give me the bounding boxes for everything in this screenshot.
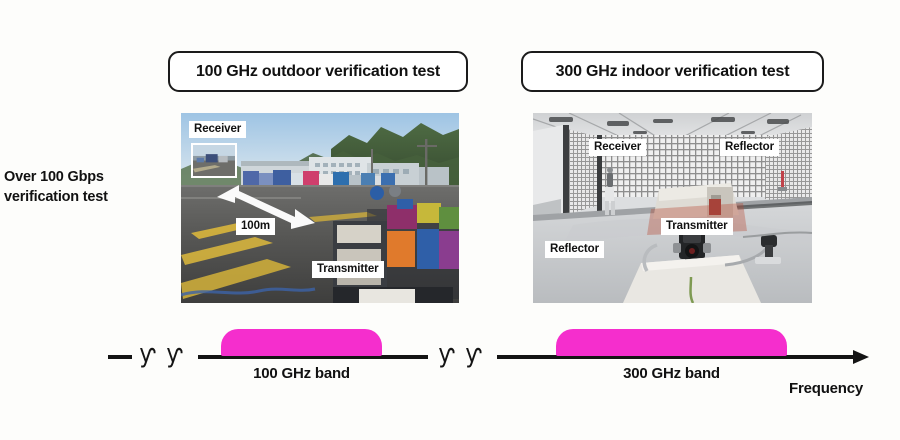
frequency-axis: ƴ ƴ ƴ ƴ 100 GHz band 300 GHz band Freque… [0,310,900,420]
photo-label-distance-100m: 100m [236,218,275,235]
receiver-zoom-inset [191,143,237,178]
section-caption-line2: verification test [4,188,164,208]
photo-outdoor-verification: Receiver 100m Transmitter [181,113,459,303]
photo-label-transmitter-outdoor: Transmitter [312,261,384,278]
axis-left-stub [108,355,132,359]
section-caption: Over 100 Gbps verification test [4,168,164,207]
band-300ghz-fill [556,329,787,356]
axis-break-mark-2: ƴ [166,341,182,367]
photo-label-reflector-left: Reflector [545,241,604,258]
band-100ghz [221,329,382,356]
band-300ghz [556,329,787,356]
band-label-300ghz: 300 GHz band [566,365,777,382]
axis-break-mark-4: ƴ [465,341,481,367]
axis-title-frequency: Frequency [789,380,863,397]
axis-break-mark-3: ƴ [438,341,454,367]
section-caption-line1: Over 100 Gbps [4,168,164,188]
axis-break-mark-1: ƴ [139,341,155,367]
receiver-zoom-inset-image [193,145,235,177]
photo-label-reflector-top: Reflector [720,139,779,156]
title-box-indoor-test: 300 GHz indoor verification test [521,51,824,92]
title-label-outdoor-test: 100 GHz outdoor verification test [196,63,440,81]
band-label-100ghz: 100 GHz band [196,365,407,382]
photo-label-transmitter-indoor: Transmitter [661,218,733,235]
photo-label-receiver-indoor: Receiver [589,139,646,156]
photo-indoor-verification: Receiver Reflector Transmitter Reflector [533,113,812,303]
band-100ghz-fill [221,329,382,356]
axis-arrowhead-icon [853,350,869,364]
photo-label-receiver-outdoor: Receiver [189,121,246,138]
title-box-outdoor-test: 100 GHz outdoor verification test [168,51,468,92]
title-label-indoor-test: 300 GHz indoor verification test [556,63,790,81]
